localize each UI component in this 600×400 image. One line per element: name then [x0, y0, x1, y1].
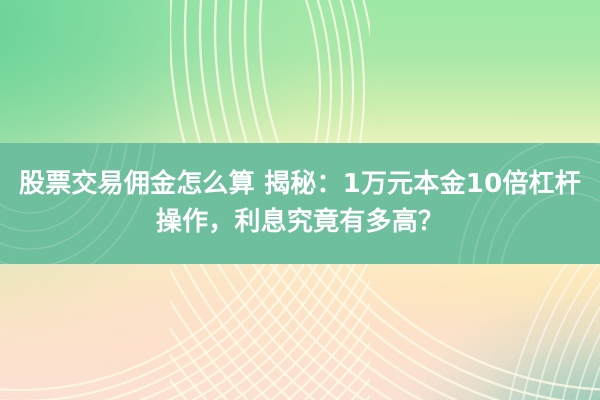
article-thumbnail-banner: 股票交易佣金怎么算 揭秘：1万元本金10倍杠杆 操作，利息究竟有多高？: [0, 0, 600, 400]
headline-line-1: 股票交易佣金怎么算 揭秘：1万元本金10倍杠杆: [8, 166, 592, 204]
page-title: 股票交易佣金怎么算 揭秘：1万元本金10倍杠杆 操作，利息究竟有多高？: [0, 166, 600, 242]
headline-band: 股票交易佣金怎么算 揭秘：1万元本金10倍杠杆 操作，利息究竟有多高？: [0, 143, 600, 264]
headline-line-2: 操作，利息究竟有多高？: [8, 204, 592, 242]
